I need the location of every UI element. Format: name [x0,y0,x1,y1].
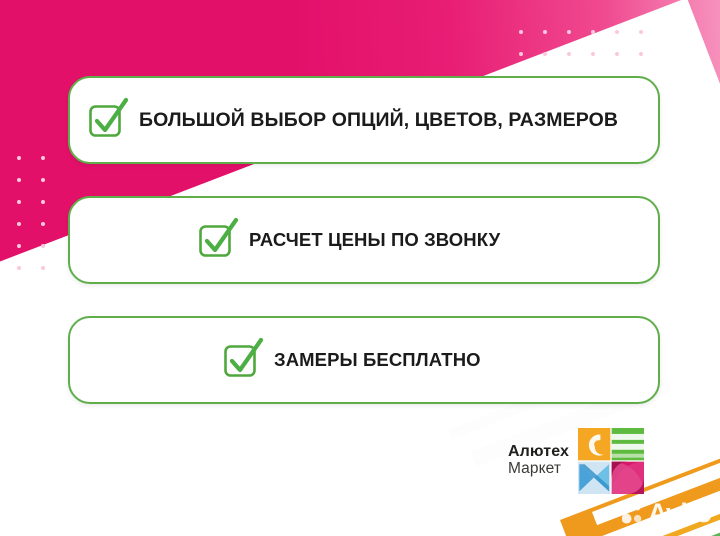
dot [17,244,21,248]
dot [41,222,45,226]
dot [41,244,45,248]
dot [543,52,547,56]
dot [41,156,45,160]
feature-card-label: БОЛЬШОЙ ВЫБОР ОПЦИЙ, ЦВЕТОВ, РАЗМЕРОВ [139,109,618,132]
dot [41,178,45,182]
dot [639,52,643,56]
brand-logo: Алютех Маркет [508,428,644,494]
dot [519,30,523,34]
green-check-box-icon [200,223,234,257]
dot [615,30,619,34]
brand-wordmark: Алютех Маркет [508,444,569,477]
dot [17,156,21,160]
dot [17,200,21,204]
dot [41,266,45,270]
dot [17,178,21,182]
dot [41,200,45,204]
dot [519,52,523,56]
feature-card-price-by-call: РАСЧЕТ ЦЕНЫ ПО ЗВОНКУ [68,196,660,284]
avito-watermark: Avito [622,500,712,527]
dot [17,222,21,226]
advertisement-banner: БОЛЬШОЙ ВЫБОР ОПЦИЙ, ЦВЕТОВ, РАЗМЕРОВ РА… [0,0,720,536]
green-check-box-icon [225,343,259,377]
dot [567,52,571,56]
dot [615,52,619,56]
feature-card-free-measurement: ЗАМЕРЫ БЕСПЛАТНО [68,316,660,404]
dot [17,266,21,270]
brand-name-primary: Алютех [508,444,569,461]
dot [567,30,571,34]
dot [543,30,547,34]
decorative-dot-grid-left [17,156,65,288]
decorative-dot-grid-top [519,30,663,74]
avito-dots-icon [622,503,644,525]
feature-card-label: ЗАМЕРЫ БЕСПЛАТНО [274,349,481,371]
dot [639,30,643,34]
green-check-box-icon [90,103,124,137]
avito-wordmark: Avito [648,500,712,527]
brand-name-secondary: Маркет [508,461,569,477]
feature-card-label: РАСЧЕТ ЦЕНЫ ПО ЗВОНКУ [249,229,500,251]
dot [591,52,595,56]
dot [591,30,595,34]
alutech-market-logo-icon [578,428,644,494]
feature-card-options: БОЛЬШОЙ ВЫБОР ОПЦИЙ, ЦВЕТОВ, РАЗМЕРОВ [68,76,660,164]
